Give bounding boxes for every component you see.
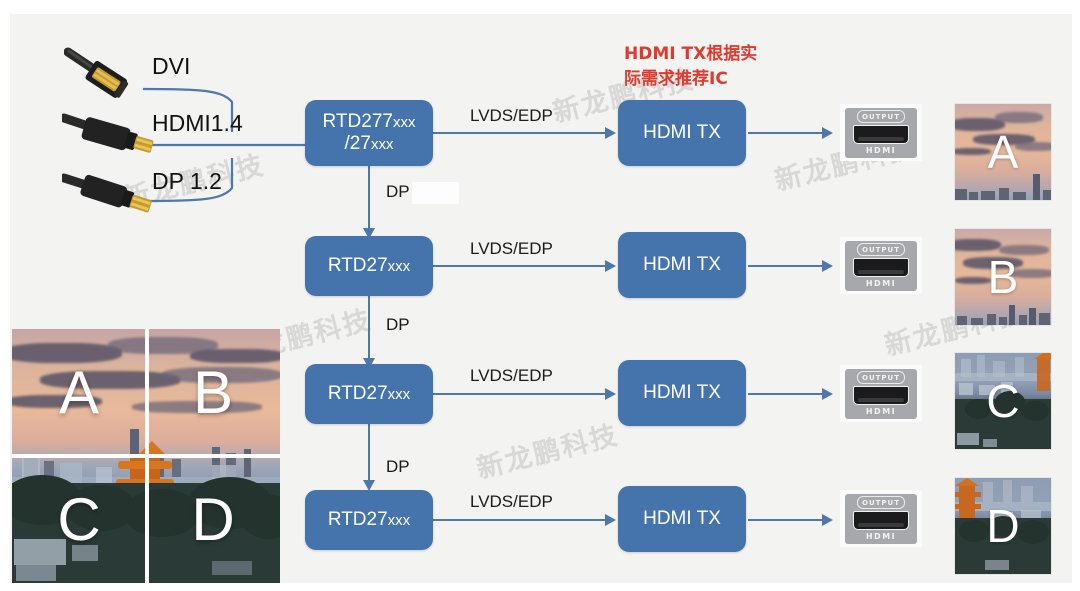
display-thumbnail-d: D: [955, 478, 1051, 574]
dp-label-patch-1: [412, 182, 459, 204]
edge-label-lvds-edp-1: LVDS/EDP: [470, 106, 553, 126]
hdmi-connector-slot-2: [853, 258, 909, 277]
dp-link-3-4: [368, 424, 370, 486]
hdmi-output-port-4[interactable]: OUTPUT HDMI: [840, 490, 922, 547]
video-wall: A B C D: [12, 329, 280, 583]
output-tag-4: OUTPUT: [857, 496, 905, 509]
display-letter-a: A: [988, 125, 1019, 179]
video-wall-cell-d: D: [146, 456, 280, 583]
arrow-tx2-to-port2: [822, 260, 833, 272]
dp-label-3: DP: [386, 457, 410, 477]
video-wall-letter-b: B: [193, 358, 233, 427]
annotation-note-line2: 际需求推荐IC: [624, 67, 757, 92]
edge-tx2-to-port2: [748, 265, 826, 267]
diagram-canvas: 新龙鹏科技 新龙鹏科技 新龙鹏科技 新龙鹏科技 新龙鹏科技 新龙鹏科技: [0, 0, 1080, 591]
video-wall-cell-a: A: [12, 329, 146, 456]
arrow-tx4-to-port4: [822, 514, 833, 526]
video-wall-letter-d: D: [191, 485, 234, 554]
hdmi-connector-slot-4: [853, 511, 909, 530]
dp-link-1-2: [368, 166, 370, 234]
scaler-3-suffix1: xxx: [388, 386, 411, 403]
hdmi-output-port-3[interactable]: OUTPUT HDMI: [840, 365, 922, 422]
scaler-2-suffix1: xxx: [388, 258, 411, 275]
hdmi-cable-icon: [62, 112, 158, 168]
dp-link-2-3: [368, 296, 370, 364]
arrow-scaler1-to-tx1: [605, 127, 616, 139]
hdmi-tx-node-3[interactable]: HDMI TX: [618, 360, 746, 426]
hdmi-output-port-1[interactable]: OUTPUT HDMI: [840, 104, 922, 161]
edge-scaler2-to-tx2: [433, 265, 609, 267]
arrow-tx1-to-port1: [822, 127, 833, 139]
output-tag-1: OUTPUT: [857, 110, 905, 123]
page-margin-bottom: [0, 583, 1080, 591]
dvi-cable-icon: [64, 46, 152, 108]
scaler-node-4[interactable]: RTD27xxx: [305, 490, 433, 550]
edge-label-lvds-edp-4: LVDS/EDP: [470, 492, 553, 512]
scaler-node-2[interactable]: RTD27xxx: [305, 236, 433, 296]
video-wall-letter-c: C: [57, 485, 100, 554]
hdmi-tx-node-2[interactable]: HDMI TX: [618, 232, 746, 298]
arrow-tx3-to-port3: [822, 388, 833, 400]
scaler-2-line1: RTD27: [328, 255, 388, 276]
page-margin-right: [1072, 0, 1080, 591]
scaler-node-1[interactable]: RTD277xxx /27xxx: [305, 100, 433, 166]
edge-label-lvds-edp-2: LVDS/EDP: [470, 239, 553, 259]
video-wall-letter-a: A: [59, 358, 99, 427]
scaler-3-line1: RTD27: [328, 383, 388, 404]
edge-scaler1-to-tx1: [433, 132, 609, 134]
arrow-scaler4-to-tx4: [605, 514, 616, 526]
video-wall-cell-c: C: [12, 456, 146, 583]
display-letter-d: D: [986, 499, 1019, 553]
watermark: 新龙鹏科技: [472, 413, 622, 486]
page-margin-left: [0, 0, 10, 591]
annotation-note-line1: HDMI TX根据实: [624, 42, 757, 67]
hdmi-tx-node-1[interactable]: HDMI TX: [618, 100, 746, 166]
arrow-scaler3-to-tx3: [605, 388, 616, 400]
video-wall-cell-b: B: [146, 329, 280, 456]
scaler-node-3[interactable]: RTD27xxx: [305, 364, 433, 424]
output-tag-3: OUTPUT: [857, 371, 905, 384]
edge-tx3-to-port3: [748, 393, 826, 395]
display-thumbnail-c: C: [955, 353, 1051, 449]
page-margin-top: [0, 0, 1080, 14]
arrow-scaler2-to-tx2: [605, 260, 616, 272]
scaler-4-suffix1: xxx: [388, 512, 411, 529]
scaler-1-line2: /27: [345, 133, 371, 154]
hdmi-port-label-1: HDMI: [866, 146, 896, 155]
display-letter-b: B: [988, 250, 1019, 304]
hdmi-output-port-2[interactable]: OUTPUT HDMI: [840, 237, 922, 294]
scaler-1-line1: RTD277: [323, 111, 393, 132]
edge-scaler3-to-tx3: [433, 393, 609, 395]
hdmi-connector-slot-3: [853, 386, 909, 405]
hdmi-port-label-2: HDMI: [866, 279, 896, 288]
dp-label-1: DP: [386, 182, 410, 202]
hdmi-tx-node-4[interactable]: HDMI TX: [618, 486, 746, 552]
annotation-note: HDMI TX根据实 际需求推荐IC: [624, 42, 757, 91]
edge-scaler4-to-tx4: [433, 519, 609, 521]
edge-tx4-to-port4: [748, 519, 826, 521]
scaler-1-suffix2: xxx: [371, 136, 394, 153]
hdmi-port-label-3: HDMI: [866, 407, 896, 416]
displayport-cable-icon: [62, 172, 158, 228]
scaler-1-suffix1: xxx: [393, 114, 416, 131]
scaler-4-line1: RTD27: [328, 509, 388, 530]
dp-label-2: DP: [386, 315, 410, 335]
edge-label-lvds-edp-3: LVDS/EDP: [470, 366, 553, 386]
hdmi-connector-slot-1: [853, 125, 909, 144]
input-label-hdmi: HDMI1.4: [152, 110, 243, 137]
input-label-dp: DP 1.2: [152, 168, 222, 195]
display-letter-c: C: [986, 374, 1019, 428]
input-label-dvi: DVI: [152, 53, 190, 80]
display-thumbnail-b: B: [955, 229, 1051, 325]
output-tag-2: OUTPUT: [857, 243, 905, 256]
hdmi-port-label-4: HDMI: [866, 532, 896, 541]
display-thumbnail-a: A: [955, 104, 1051, 200]
edge-tx1-to-port1: [748, 132, 826, 134]
